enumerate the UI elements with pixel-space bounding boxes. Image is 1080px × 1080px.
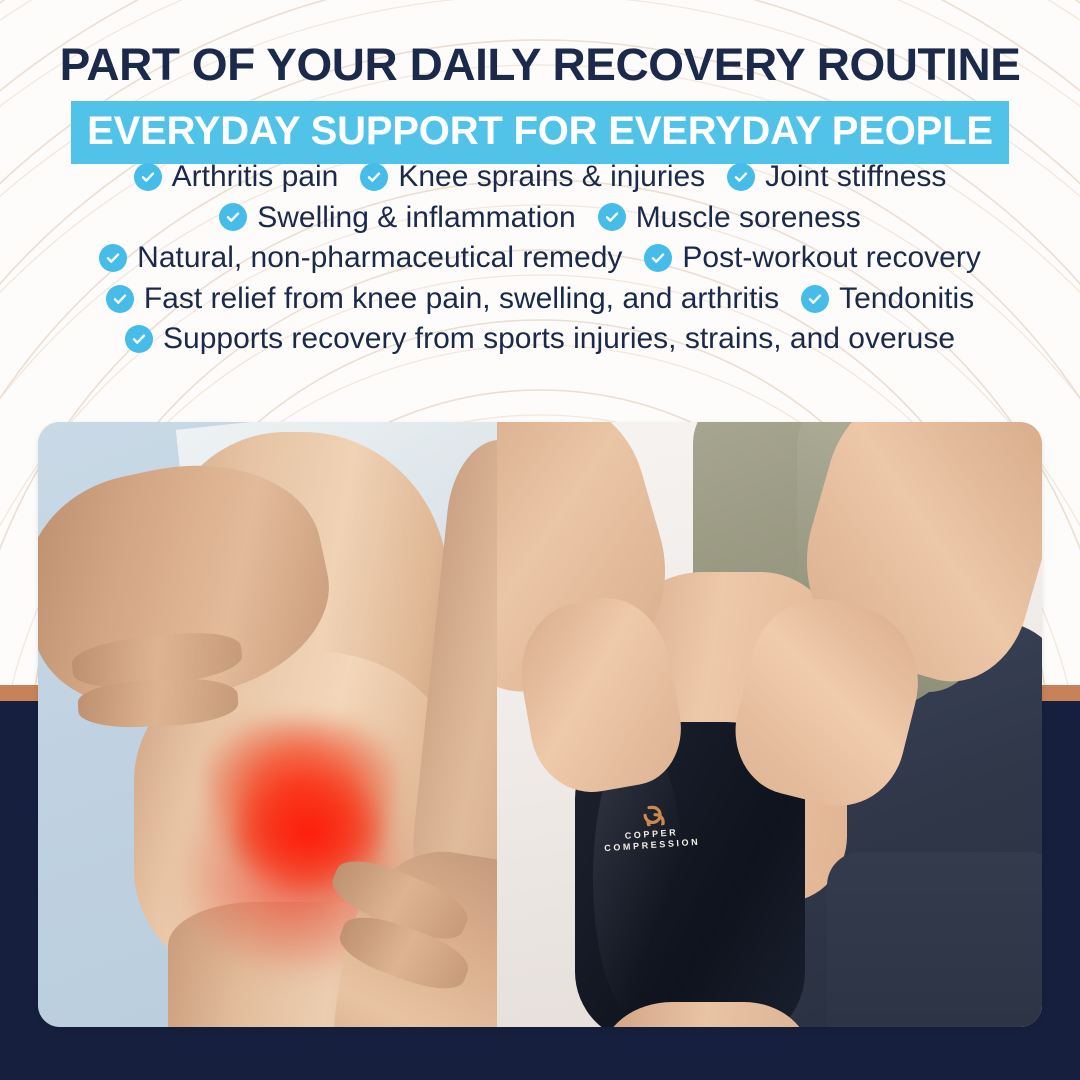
list-item: Arthritis pain — [134, 160, 339, 194]
benefit-row: Supports recovery from sports injuries, … — [0, 322, 1080, 356]
check-circle-icon — [727, 163, 755, 191]
benefit-label: Post-workout recovery — [682, 241, 980, 275]
check-circle-icon — [219, 203, 247, 231]
benefit-label: Joint stiffness — [765, 160, 946, 194]
list-item: Fast relief from knee pain, swelling, an… — [106, 282, 779, 316]
check-circle-icon — [106, 285, 134, 313]
shorts-lower-shape — [827, 852, 1042, 1027]
list-item: Knee sprains & injuries — [360, 160, 705, 194]
benefit-label: Muscle soreness — [636, 201, 861, 235]
list-item: Natural, non-pharmaceutical remedy — [99, 241, 622, 275]
copper-links-icon — [626, 802, 673, 827]
knee-pain-photo — [38, 422, 497, 1027]
benefit-row: Fast relief from knee pain, swelling, an… — [0, 282, 1080, 316]
check-circle-icon — [801, 285, 829, 313]
check-circle-icon — [134, 163, 162, 191]
check-circle-icon — [644, 244, 672, 272]
subheadline-wrap: EVERYDAY SUPPORT FOR EVERYDAY PEOPLE — [0, 101, 1080, 164]
product-benefits-poster: PART OF YOUR DAILY RECOVERY ROUTINE EVER… — [0, 0, 1080, 1080]
subheadline-banner: EVERYDAY SUPPORT FOR EVERYDAY PEOPLE — [71, 101, 1009, 164]
benefit-label: Supports recovery from sports injuries, … — [163, 322, 955, 356]
benefit-label: Knee sprains & injuries — [398, 160, 705, 194]
check-circle-icon — [360, 163, 388, 191]
benefit-label: Natural, non-pharmaceutical remedy — [137, 241, 622, 275]
check-circle-icon — [99, 244, 127, 272]
list-item: Muscle soreness — [598, 201, 861, 235]
benefit-row: Arthritis pain Knee sprains & injuries J… — [0, 160, 1080, 194]
check-circle-icon — [125, 325, 153, 353]
benefit-label: Fast relief from knee pain, swelling, an… — [144, 282, 779, 316]
list-item: Post-workout recovery — [644, 241, 980, 275]
list-item: Swelling & inflammation — [219, 201, 575, 235]
list-item: Joint stiffness — [727, 160, 946, 194]
header: PART OF YOUR DAILY RECOVERY ROUTINE EVER… — [0, 0, 1080, 164]
list-item: Supports recovery from sports injuries, … — [125, 322, 955, 356]
knee-sleeve-photo: COPPER COMPRESSION — [497, 422, 1042, 1027]
check-circle-icon — [598, 203, 626, 231]
benefit-label: Swelling & inflammation — [257, 201, 575, 235]
benefit-label: Arthritis pain — [172, 160, 339, 194]
photo-panel: COPPER COMPRESSION — [38, 422, 1042, 1027]
benefit-label: Tendonitis — [839, 282, 974, 316]
brand-logo: COPPER COMPRESSION — [601, 801, 700, 855]
benefit-row: Natural, non-pharmaceutical remedy Post-… — [0, 241, 1080, 275]
list-item: Tendonitis — [801, 282, 974, 316]
page-title: PART OF YOUR DAILY RECOVERY ROUTINE — [0, 0, 1080, 87]
benefits-list: Arthritis pain Knee sprains & injuries J… — [0, 160, 1080, 363]
benefit-row: Swelling & inflammation Muscle soreness — [0, 201, 1080, 235]
